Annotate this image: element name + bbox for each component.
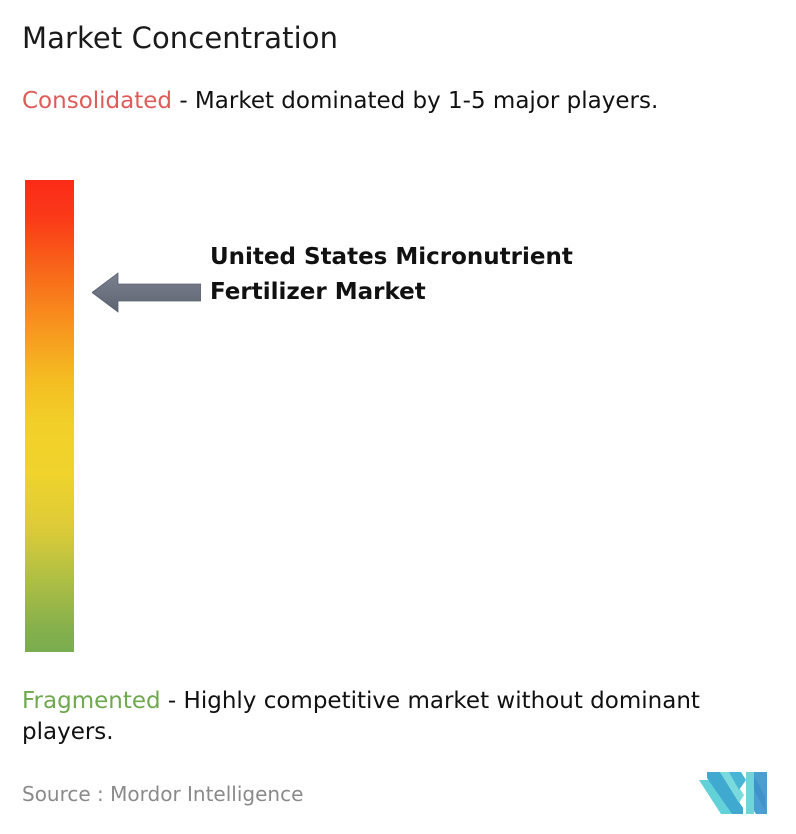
legend-fragmented-keyword: Fragmented [22, 688, 161, 714]
legend-consolidated: Consolidated - Market dominated by 1-5 m… [22, 86, 762, 117]
callout-market-label: United States Micronutrient Fertilizer M… [210, 240, 630, 310]
market-concentration-scale-bar [25, 180, 74, 652]
legend-fragmented: Fragmented - Highly competitive market w… [22, 686, 784, 748]
mordor-intelligence-logo [699, 770, 771, 814]
source-note: Source : Mordor Intelligence [22, 780, 303, 808]
left-arrow-icon [92, 272, 201, 313]
page-title: Market Concentration [22, 18, 338, 58]
market-concentration-chart: Market Concentration Consolidated - Mark… [0, 0, 796, 834]
scale-pointer-arrow [92, 272, 201, 313]
legend-consolidated-keyword: Consolidated [22, 88, 172, 114]
legend-consolidated-description: - Market dominated by 1-5 major players. [172, 88, 658, 114]
mi-logo-icon [699, 770, 771, 814]
